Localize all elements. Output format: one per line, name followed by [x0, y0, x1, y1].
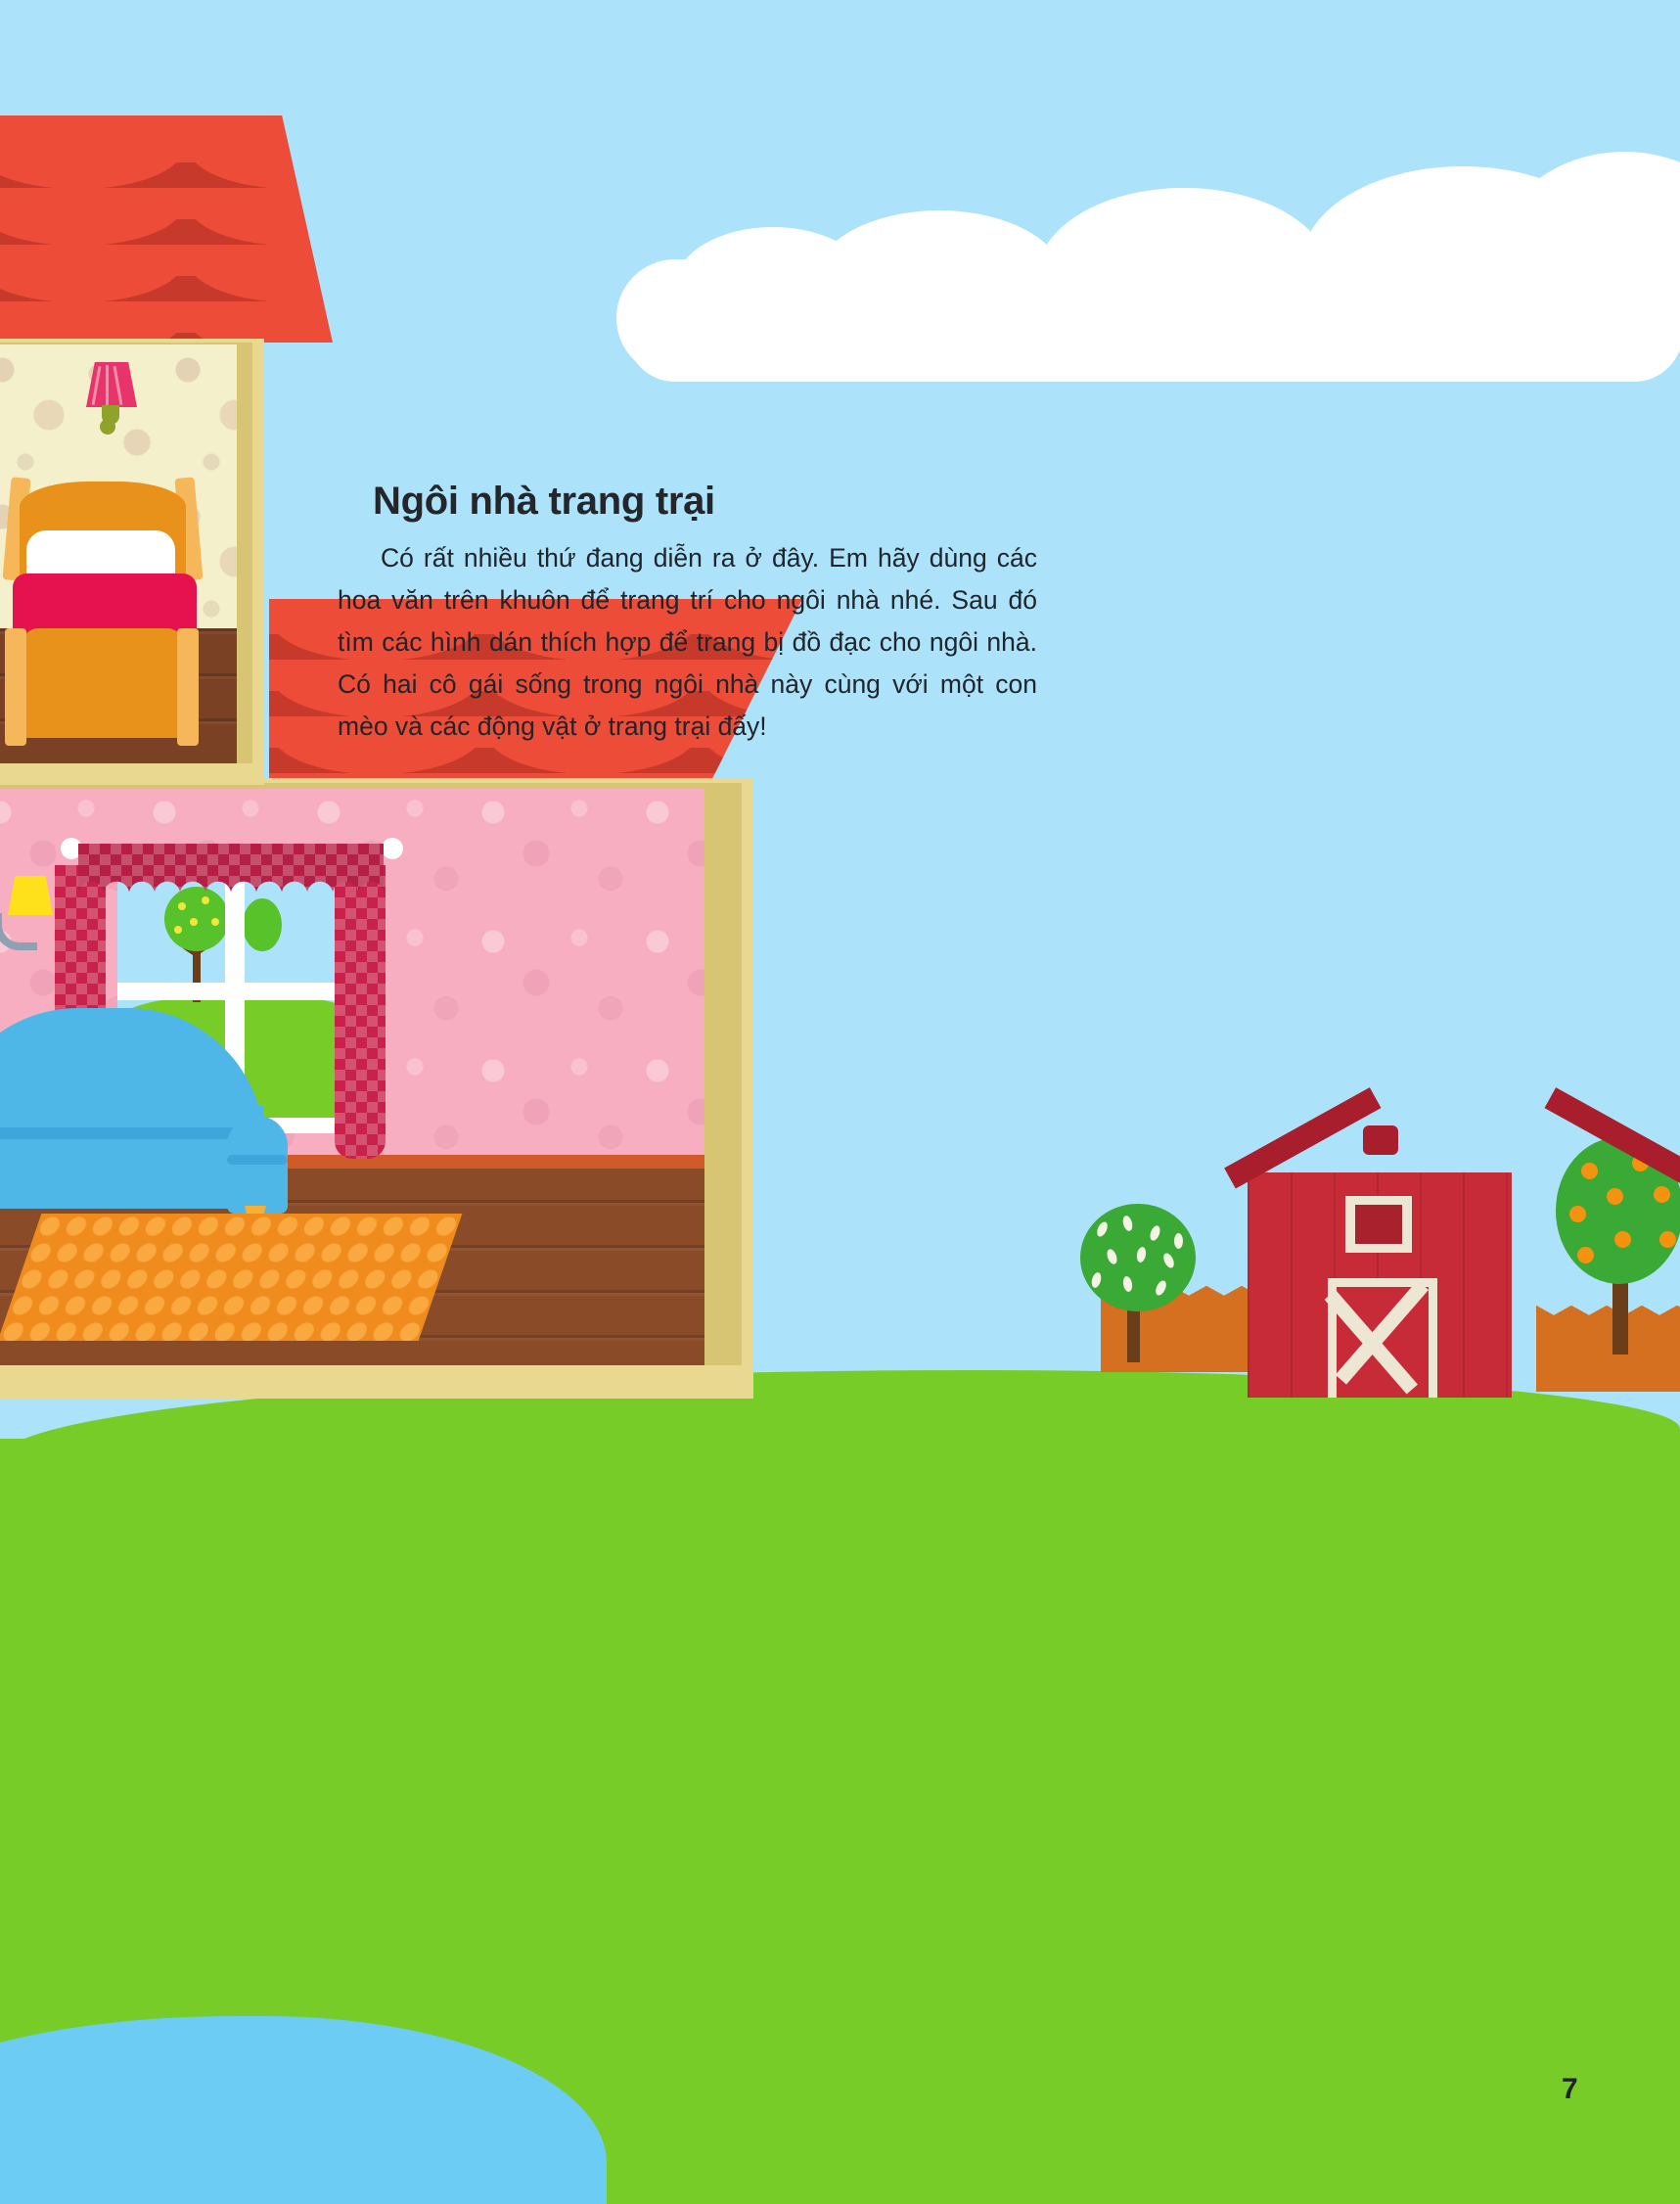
curtain-right[interactable]: [335, 865, 386, 1159]
bed-foot-post-right: [177, 628, 199, 746]
window-tree-back: [243, 898, 282, 951]
page-number: 7: [1562, 2073, 1578, 2106]
text-block: Ngôi nhà trang trại Có rất nhiều thứ đan…: [338, 480, 1037, 748]
bed-foot-post-left: [5, 628, 26, 746]
curtain-valance: [78, 844, 384, 895]
upper-house-base: [0, 763, 264, 785]
page-title: Ngôi nhà trang trại: [373, 480, 1037, 524]
curtain-rod-finial-right: [382, 838, 403, 859]
farm-scene: [1057, 1077, 1680, 1400]
cloud-icon: [616, 166, 1680, 391]
blue-sofa[interactable]: [0, 1008, 333, 1214]
bed[interactable]: [0, 470, 230, 734]
page-paragraph: Có rất nhiều thứ đang diễn ra ở đây. Em …: [338, 537, 1037, 748]
lower-house-base: [0, 1365, 753, 1399]
bed-footboard: [23, 628, 183, 738]
upper-roof: [0, 115, 333, 343]
book-page: Ngôi nhà trang trại Có rất nhiều thứ đan…: [0, 0, 1680, 2204]
orange-rug: [0, 1214, 462, 1341]
fence-right: [1536, 1323, 1680, 1392]
blossom-tree-icon: [1080, 1204, 1198, 1360]
pink-wall-lamp-icon: [82, 362, 141, 450]
red-barn: [1218, 1112, 1541, 1396]
yellow-wall-lamp-icon: [0, 876, 59, 954]
window-mullion-h: [117, 983, 352, 1000]
